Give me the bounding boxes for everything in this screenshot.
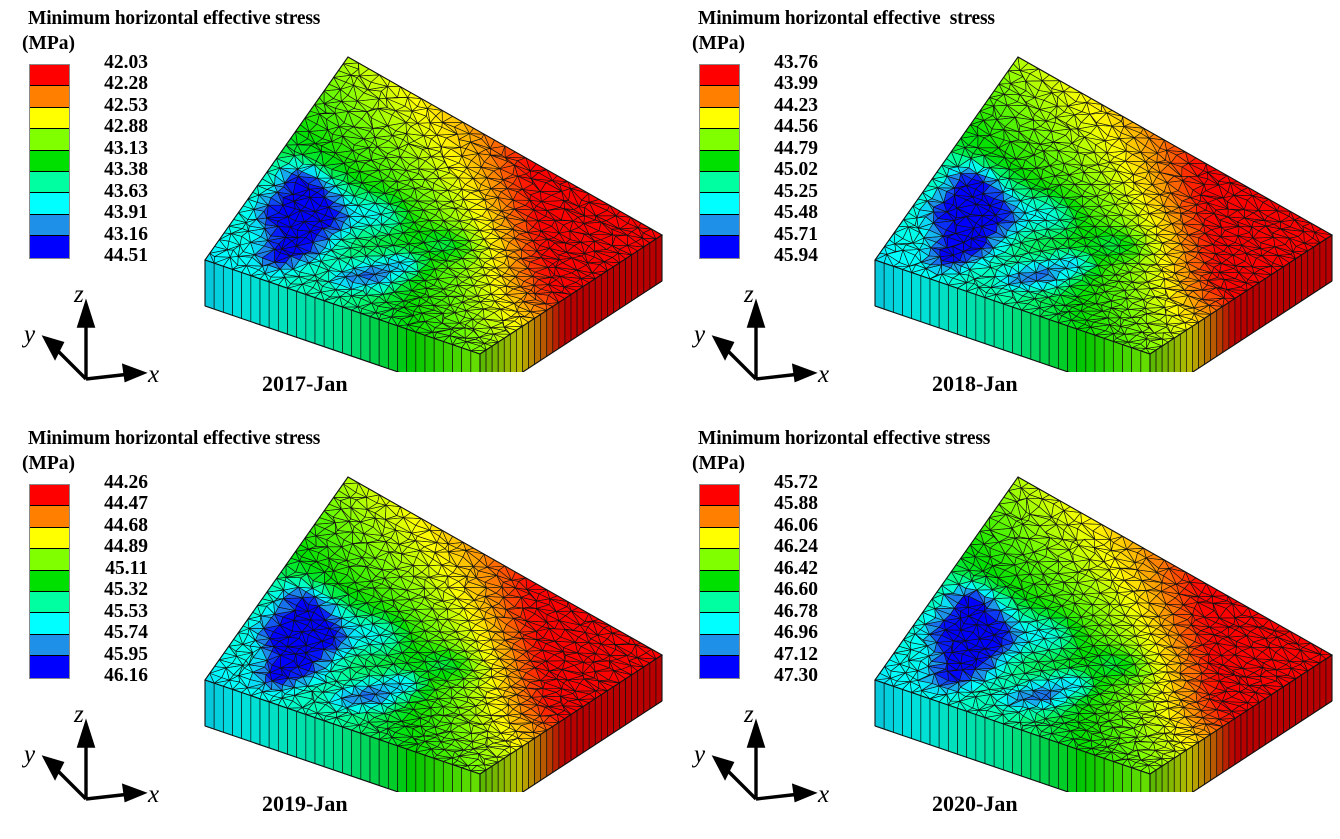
slab-side-facet (1302, 251, 1308, 301)
colorbar-tick-label: 45.53 (74, 601, 148, 622)
stress-map-panel: Minimum horizontal effective stress (MPa… (0, 0, 670, 419)
axis-triad-svg: z y x (682, 286, 842, 391)
panel-caption: 2018-Jan (932, 371, 1018, 397)
slab-side-facet (529, 318, 535, 368)
axis-triad: z y x (682, 286, 842, 391)
axis-triad: z y x (12, 286, 172, 391)
reservoir-3d-block (150, 442, 670, 792)
slab-side-facet (921, 276, 930, 325)
slab-side-facet (1241, 291, 1247, 341)
colorbar (29, 64, 70, 259)
axis-label-x: x (817, 361, 829, 388)
colorbar-tick-label: 45.95 (74, 644, 148, 665)
slab-side-facet (638, 247, 644, 297)
colorbar-swatch (30, 108, 69, 129)
slab-side-facet (553, 302, 559, 352)
slab-side-facet (1235, 295, 1241, 345)
slab-side-facet (1086, 332, 1095, 372)
colorbar-tick-label: 43.16 (74, 224, 148, 245)
slab-side-facet (205, 260, 214, 309)
colorbar-tick-label: 45.25 (744, 181, 818, 202)
colorbar-tick-label: 43.76 (744, 52, 818, 73)
slab-side-facet (1211, 310, 1217, 360)
slab-side-facet (1049, 320, 1058, 369)
colorbar-tick-label: 45.74 (74, 622, 148, 643)
reservoir-3d-block (150, 22, 670, 372)
slab-side-facet (577, 287, 583, 337)
colorbar-swatch (700, 86, 739, 107)
slab-side-facet (535, 314, 541, 364)
slab-side-facet (306, 294, 315, 343)
slab-side-facet (1277, 267, 1283, 317)
colorbar-swatch (30, 65, 69, 86)
colorbar-tick-label: 43.38 (74, 159, 148, 180)
slab-side-facet (541, 310, 547, 360)
colorbar-tick-label: 45.71 (744, 224, 818, 245)
slab-side-facet (884, 263, 893, 312)
slab-side-facet (510, 330, 516, 372)
colorbar-tick-label: 44.23 (744, 95, 818, 116)
slab-side-facet (214, 263, 223, 312)
reservoir-mesh-svg (820, 22, 1340, 372)
colorbar-tick-label: 43.13 (74, 138, 148, 159)
figure-root: Minimum horizontal effective stress (MPa… (0, 0, 1340, 839)
stress-map-panel: Minimum horizontal effective stress (MPa… (670, 0, 1340, 419)
stress-map-panel: Minimum horizontal effective stress (MPa… (0, 420, 670, 839)
colorbar-tick-label: 44.51 (74, 245, 148, 266)
colorbar-tick-label: 43.99 (744, 73, 818, 94)
slab-side-facet (1308, 247, 1314, 297)
colorbar-tick-label: 46.16 (74, 665, 148, 686)
axis-triad-svg: z y x (12, 286, 172, 391)
slab-side-facet (278, 285, 287, 334)
slab-side-facet (994, 301, 1003, 350)
slab-side-facet (1022, 310, 1031, 359)
reservoir-3d-block (820, 22, 1340, 372)
colorbar-swatch (30, 193, 69, 214)
slab-side-facet (379, 320, 388, 369)
colorbar-swatch (700, 129, 739, 150)
axis-label-z: z (743, 286, 754, 308)
slab-side-facet (251, 276, 260, 325)
colorbar-tick-label: 44.89 (74, 536, 148, 557)
slab-side-facet (416, 332, 425, 372)
slab-side-facet (589, 279, 595, 329)
slab-side-facet (492, 342, 498, 372)
slab-side-facet (1003, 304, 1012, 353)
slab-side-facet (504, 334, 510, 372)
slab-side-facet (1068, 326, 1077, 372)
slab-side-facet (315, 298, 324, 347)
slab-side-facet (1296, 255, 1302, 305)
slab-side-facet (656, 235, 662, 285)
slab-side-facet (1283, 263, 1289, 313)
slab-side-facet (1223, 302, 1229, 352)
slab-side-facet (1199, 318, 1205, 368)
slab-side-facet (985, 298, 994, 347)
slab-side-facet (1040, 316, 1049, 365)
colorbar-swatch (30, 613, 69, 634)
slab-side-facet (1247, 287, 1253, 337)
slab-side-facet (333, 304, 342, 353)
slab-side-facet (1113, 341, 1122, 372)
colorbar-tick-label: 45.48 (744, 202, 818, 223)
slab-side-facet (595, 275, 601, 325)
slab-side-facet (1192, 322, 1198, 372)
slab-side-facet (388, 323, 397, 372)
colorbar-swatch (30, 172, 69, 193)
panel-caption: 2017-Jan (262, 371, 348, 397)
slab-side-facet (632, 251, 638, 301)
slab-side-facet (260, 279, 269, 328)
colorbar-tick-label: 43.91 (74, 202, 148, 223)
colorbar-swatch (30, 528, 69, 549)
slab-side-facet (1205, 314, 1211, 364)
colorbar-swatch (700, 65, 739, 86)
slab-side-facet (1259, 279, 1265, 329)
slab-side-facet (958, 288, 967, 337)
axis-label-z: z (73, 286, 84, 308)
colorbar-tick-label: 45.94 (744, 245, 818, 266)
colorbar-swatch (30, 549, 69, 570)
colorbar-tick-label: 42.28 (74, 73, 148, 94)
slab-side-facet (565, 295, 571, 345)
reservoir-mesh-svg (150, 442, 670, 792)
axis-label-y: y (691, 321, 706, 348)
slab-side-facet (1095, 335, 1104, 372)
slab-side-facet (1077, 329, 1086, 372)
slab-side-facet (601, 271, 607, 321)
slab-side-facet (626, 255, 632, 305)
colorbar-swatch (30, 86, 69, 107)
colorbar-swatch (30, 635, 69, 656)
colorbar-tick-label: 42.53 (74, 95, 148, 116)
slab-side-facet (1229, 298, 1235, 348)
slab-side-facet (547, 306, 553, 356)
slab-side-facet (1180, 330, 1186, 372)
colorbar-swatch (700, 108, 739, 129)
slab-side-facet (324, 301, 333, 350)
colorbar-tick-label: 45.11 (74, 558, 148, 579)
slab-side-facet (370, 316, 379, 365)
colorbar-swatch (30, 129, 69, 150)
colorbar-tick-label: 45.02 (744, 159, 818, 180)
colorbar-tick-label: 44.68 (74, 515, 148, 536)
slab-side-facet (948, 285, 957, 334)
reservoir-mesh-svg (150, 22, 670, 372)
slab-side-facet (453, 345, 462, 372)
colorbar-tick-label: 45.32 (74, 579, 148, 600)
colorbar-tick-label: 43.63 (74, 181, 148, 202)
slab-side-facet (498, 338, 504, 372)
slab-side-facet (443, 341, 452, 372)
colorbar-swatch (30, 215, 69, 236)
slab-side-facet (1186, 326, 1192, 372)
slab-side-facet (242, 273, 251, 322)
slab-side-facet (1326, 235, 1332, 285)
colorbar-swatch (700, 193, 739, 214)
slab-side-facet (233, 269, 242, 318)
colorbar-tick-label: 42.03 (74, 52, 148, 73)
slab-side-facet (407, 329, 416, 372)
slab-side-facet (1320, 239, 1326, 289)
slab-side-facet (875, 260, 884, 309)
slab-side-facet (1123, 345, 1132, 372)
slab-side-facet (559, 298, 565, 348)
colorbar-swatch (30, 506, 69, 527)
slab-side-facet (967, 291, 976, 340)
slab-side-facet (361, 313, 370, 362)
colorbar-labels: 42.0342.2842.5342.8843.1343.3843.6343.91… (74, 52, 148, 267)
colorbar (29, 484, 70, 679)
colorbar-swatch (30, 236, 69, 257)
slab-side-facet (613, 263, 619, 313)
slab-side-facet (644, 243, 650, 293)
colorbar-swatch (30, 592, 69, 613)
colorbar-tick-label: 44.79 (744, 138, 818, 159)
colorbar-tick-label: 44.26 (74, 472, 148, 493)
slab-side-facet (297, 291, 306, 340)
slab-side-facet (1104, 338, 1113, 372)
slab-side-facet (1174, 334, 1180, 372)
slab-side-facet (607, 267, 613, 317)
slab-side-facet (620, 259, 626, 309)
slab-side-facet (571, 291, 577, 341)
axis-label-x: x (147, 361, 159, 388)
slab-side-facet (522, 322, 528, 372)
slab-side-facet (893, 266, 902, 315)
slab-side-facet (1162, 342, 1168, 372)
slab-side-facet (352, 310, 361, 359)
slab-side-facet (434, 338, 443, 372)
colorbar-swatch (30, 151, 69, 172)
slab-side-facet (976, 294, 985, 343)
slab-side-facet (930, 279, 939, 328)
colorbar (699, 64, 740, 259)
slab-side-facet (1217, 306, 1223, 356)
slab-side-facet (425, 335, 434, 372)
colorbar-swatch (700, 215, 739, 236)
slab-side-facet (1058, 323, 1067, 372)
slab-side-facet (223, 266, 232, 315)
colorbar-swatch (700, 172, 739, 193)
colorbar-tick-label: 44.56 (744, 116, 818, 137)
slab-side-facet (288, 288, 297, 337)
colorbar-swatch (700, 151, 739, 172)
legend-units-label: (MPa) (692, 33, 745, 55)
colorbar-swatch (30, 571, 69, 592)
slab-side-facet (650, 239, 656, 289)
slab-side-facet (1132, 348, 1141, 372)
slab-side-facet (583, 283, 589, 333)
colorbar-swatch (30, 485, 69, 506)
slab-side-facet (1314, 243, 1320, 293)
slab-side-facet (1168, 338, 1174, 372)
slab-side-facet (939, 282, 948, 331)
slab-side-facet (1290, 259, 1296, 309)
slab-side-facet (903, 269, 912, 318)
slab-side-facet (1253, 283, 1259, 333)
slab-side-facet (1031, 313, 1040, 362)
slab-side-facet (398, 326, 407, 372)
slab-side-facet (462, 348, 471, 372)
colorbar-swatch (700, 236, 739, 257)
colorbar-labels: 43.7643.9944.2344.5644.7945.0245.2545.48… (744, 52, 818, 267)
colorbar-tick-label: 44.47 (74, 493, 148, 514)
axis-label-y: y (21, 321, 36, 348)
colorbar-swatch (30, 656, 69, 677)
slab-side-facet (269, 282, 278, 331)
slab-side-facet (1013, 307, 1022, 356)
colorbar-tick-label: 42.88 (74, 116, 148, 137)
legend-units-label: (MPa) (22, 453, 75, 475)
slab-side-facet (343, 307, 352, 356)
colorbar-labels: 44.2644.4744.6844.8945.1145.3245.5345.74… (74, 472, 148, 687)
legend-units-label: (MPa) (22, 33, 75, 55)
slab-side-facet (912, 273, 921, 322)
slab-side-facet (1271, 271, 1277, 321)
slab-side-facet (1265, 275, 1271, 325)
slab-side-facet (516, 326, 522, 372)
